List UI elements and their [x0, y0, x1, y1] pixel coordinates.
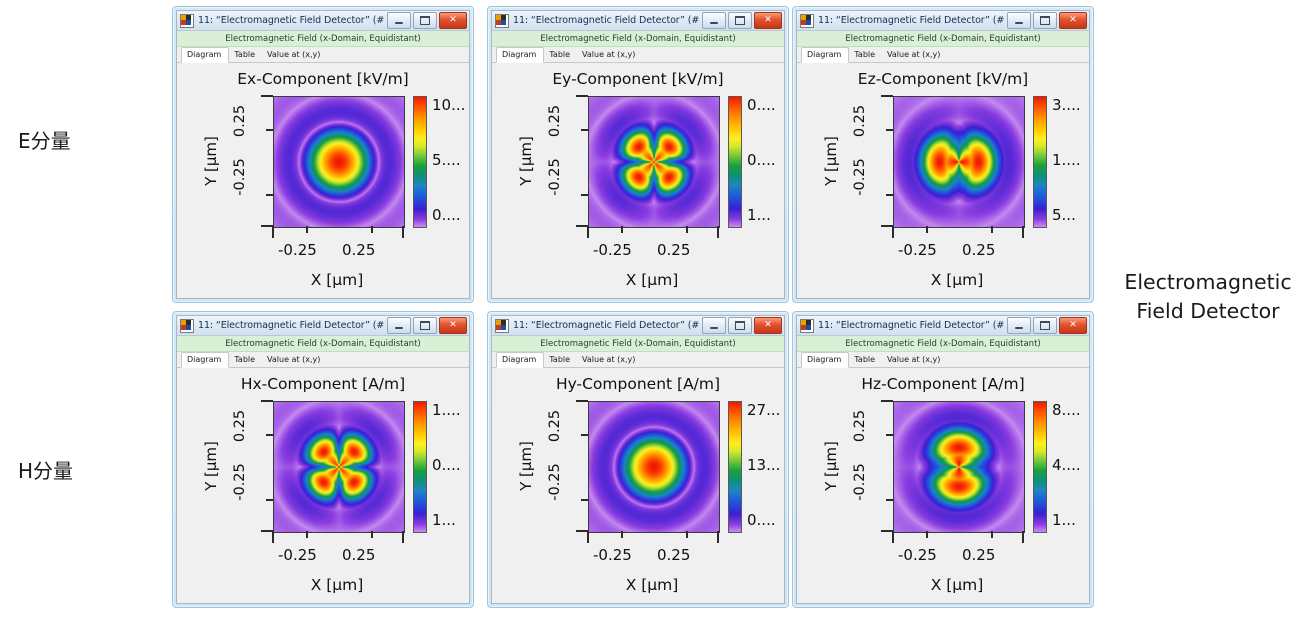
y-axis-top-tick [576, 95, 588, 97]
colorbar-label-mid: 5.... [432, 151, 461, 169]
tab-table[interactable]: Table [849, 353, 882, 367]
maximize-icon [1040, 321, 1050, 330]
window-inner: 11: “Electromagnetic Field Detector” (# … [796, 10, 1090, 299]
close-button[interactable]: ✕ [1059, 12, 1087, 29]
minimize-button[interactable] [387, 12, 411, 29]
window-button-group: ✕ [387, 317, 467, 334]
close-button[interactable]: ✕ [754, 12, 782, 29]
y-tick-label-lower: -0.25 [538, 169, 572, 185]
tab-table[interactable]: Table [229, 48, 262, 62]
tab-diagram[interactable]: Diagram [181, 352, 229, 368]
colorbar-label-max: 1.... [432, 401, 461, 419]
x-axis-label: X [µm] [257, 271, 417, 289]
tab-value-at-xy[interactable]: Value at (x,y) [577, 353, 642, 367]
y-axis-bottom-tick [261, 530, 273, 532]
y-tick-mark-0 [581, 434, 588, 436]
diagram-plot-area: Ey-Component [kV/m] Y [µm] 0.25 -0.25 -0… [492, 63, 784, 298]
y-tick-mark-0 [886, 129, 893, 131]
x-axis-start-tick [892, 226, 894, 238]
x-tick-label-right: 0.25 [657, 546, 690, 564]
dataset-subheader: Electromagnetic Field (x-Domain, Equidis… [177, 336, 469, 352]
application-icon [800, 319, 814, 333]
x-tick-mark-0 [306, 531, 308, 538]
x-tick-mark-1 [686, 531, 688, 538]
maximize-button[interactable] [1033, 12, 1057, 29]
x-tick-label-left: -0.25 [898, 546, 937, 564]
window-titlebar[interactable]: 11: “Electromagnetic Field Detector” (# … [797, 11, 1089, 31]
application-icon [495, 14, 509, 28]
x-axis-start-tick [892, 531, 894, 543]
tab-value-at-xy[interactable]: Value at (x,y) [882, 48, 947, 62]
x-tick-mark-0 [621, 226, 623, 233]
maximize-button[interactable] [728, 317, 752, 334]
dataset-subheader: Electromagnetic Field (x-Domain, Equidis… [492, 31, 784, 47]
colorbar-label-min: 1... [432, 511, 456, 529]
window-button-group: ✕ [387, 12, 467, 29]
minimize-button[interactable] [1007, 12, 1031, 29]
annotation-e-component: E分量 [18, 125, 71, 154]
tab-diagram[interactable]: Diagram [496, 352, 544, 368]
colorbar-label-min: 0.... [432, 206, 461, 224]
y-axis-bottom-tick [576, 530, 588, 532]
colorbar-label-min: 1... [1052, 511, 1076, 529]
plot-title: Ex-Component [kV/m] [177, 70, 469, 88]
minimize-button[interactable] [702, 317, 726, 334]
application-icon [800, 14, 814, 28]
y-tick-label-upper: 0.25 [538, 113, 572, 129]
x-tick-mark-0 [306, 226, 308, 233]
dataset-subheader: Electromagnetic Field (x-Domain, Equidis… [177, 31, 469, 47]
maximize-icon [420, 321, 430, 330]
tab-table[interactable]: Table [849, 48, 882, 62]
field-heatmap-canvas [589, 97, 719, 227]
y-axis-label: Y [µm] [821, 96, 841, 226]
x-axis-label: X [µm] [877, 271, 1037, 289]
y-tick-label-upper: 0.25 [538, 418, 572, 434]
dataset-subheader: Electromagnetic Field (x-Domain, Equidis… [492, 336, 784, 352]
colorbar[interactable] [413, 96, 427, 228]
window-inner: 11: “Electromagnetic Field Detector” (# … [796, 315, 1090, 604]
colorbar-label-mid: 13... [747, 456, 780, 474]
minimize-icon [395, 22, 403, 24]
maximize-icon [420, 16, 430, 25]
close-icon: ✕ [764, 16, 772, 25]
window-button-group: ✕ [702, 317, 782, 334]
tab-diagram[interactable]: Diagram [801, 352, 849, 368]
maximize-button[interactable] [413, 12, 437, 29]
detector-window-ex[interactable]: 11: “Electromagnetic Field Detector” (# … [172, 6, 474, 303]
tab-value-at-xy[interactable]: Value at (x,y) [262, 353, 327, 367]
y-axis-label: Y [µm] [201, 401, 221, 531]
detector-window-ey[interactable]: 11: “Electromagnetic Field Detector” (# … [487, 6, 789, 303]
detector-window-hx[interactable]: 11: “Electromagnetic Field Detector” (# … [172, 311, 474, 608]
plot-title: Ez-Component [kV/m] [797, 70, 1089, 88]
window-titlebar[interactable]: 11: “Electromagnetic Field Detector” (# … [492, 316, 784, 336]
x-tick-label-left: -0.25 [278, 241, 317, 259]
x-axis-end-tick [717, 531, 719, 543]
view-tabbar: Diagram Table Value at (x,y) [177, 47, 469, 63]
maximize-button[interactable] [1033, 317, 1057, 334]
dataset-subheader: Electromagnetic Field (x-Domain, Equidis… [797, 31, 1089, 47]
x-tick-mark-1 [371, 531, 373, 538]
x-tick-label-left: -0.25 [898, 241, 937, 259]
colorbar-label-mid: 1.... [1052, 151, 1081, 169]
field-heatmap-ey[interactable] [588, 96, 720, 228]
window-button-group: ✕ [1007, 12, 1087, 29]
window-inner: 11: “Electromagnetic Field Detector” (# … [491, 10, 785, 299]
close-icon: ✕ [449, 321, 457, 330]
window-title: 11: “Electromagnetic Field Detector” (# … [818, 320, 1007, 331]
field-heatmap-hx[interactable] [273, 401, 405, 533]
application-icon [180, 14, 194, 28]
x-tick-label-left: -0.25 [278, 546, 317, 564]
window-inner: 11: “Electromagnetic Field Detector” (# … [491, 315, 785, 604]
field-heatmap-canvas [894, 402, 1024, 532]
window-title: 11: “Electromagnetic Field Detector” (# … [513, 320, 702, 331]
minimize-icon [710, 327, 718, 329]
colorbar-label-mid: 0.... [432, 456, 461, 474]
y-tick-label-upper: 0.25 [843, 113, 877, 129]
x-tick-mark-1 [686, 226, 688, 233]
x-tick-mark-0 [926, 531, 928, 538]
field-heatmap-ex[interactable] [273, 96, 405, 228]
y-tick-label-lower: -0.25 [538, 474, 572, 490]
annotation-detector-caption: Electromagnetic Field Detector [1110, 268, 1306, 326]
x-axis-end-tick [402, 531, 404, 543]
y-tick-label-lower: -0.25 [843, 169, 877, 185]
x-axis-end-tick [402, 226, 404, 238]
minimize-button[interactable] [387, 317, 411, 334]
diagram-plot-area: Ez-Component [kV/m] Y [µm] 0.25 -0.25 -0… [797, 63, 1089, 298]
tab-table[interactable]: Table [544, 353, 577, 367]
close-button[interactable]: ✕ [439, 12, 467, 29]
y-tick-mark-0 [266, 434, 273, 436]
x-axis-end-tick [1022, 226, 1024, 238]
y-tick-label-upper: 0.25 [843, 418, 877, 434]
window-button-group: ✕ [702, 12, 782, 29]
field-heatmap-canvas [274, 97, 404, 227]
colorbar[interactable] [1033, 96, 1047, 228]
close-button[interactable]: ✕ [439, 317, 467, 334]
view-tabbar: Diagram Table Value at (x,y) [177, 352, 469, 368]
tab-table[interactable]: Table [229, 353, 262, 367]
y-tick-mark-1 [886, 194, 893, 196]
x-tick-label-left: -0.25 [593, 241, 632, 259]
x-axis-start-tick [272, 226, 274, 238]
x-axis-end-tick [717, 226, 719, 238]
colorbar-label-max: 27... [747, 401, 780, 419]
plot-title: Hz-Component [A/m] [797, 375, 1089, 393]
maximize-button[interactable] [728, 12, 752, 29]
close-icon: ✕ [449, 16, 457, 25]
colorbar-label-min: 0.... [747, 511, 776, 529]
x-axis-label: X [µm] [572, 271, 732, 289]
x-axis-label: X [µm] [877, 576, 1037, 594]
colorbar[interactable] [413, 401, 427, 533]
x-tick-mark-1 [991, 226, 993, 233]
y-tick-label-upper: 0.25 [223, 418, 257, 434]
x-tick-label-right: 0.25 [657, 241, 690, 259]
x-tick-label-right: 0.25 [342, 241, 375, 259]
application-icon [180, 319, 194, 333]
plot-title: Ey-Component [kV/m] [492, 70, 784, 88]
close-icon: ✕ [764, 321, 772, 330]
detector-caption-line1: Electromagnetic [1110, 268, 1306, 297]
minimize-button[interactable] [702, 12, 726, 29]
y-axis-label: Y [µm] [821, 401, 841, 531]
diagram-plot-area: Ex-Component [kV/m] Y [µm] 0.25 -0.25 -0… [177, 63, 469, 298]
tab-diagram[interactable]: Diagram [181, 47, 229, 63]
tab-value-at-xy[interactable]: Value at (x,y) [577, 48, 642, 62]
window-inner: 11: “Electromagnetic Field Detector” (# … [176, 10, 470, 299]
detector-caption-line2: Field Detector [1110, 297, 1306, 326]
y-axis-top-tick [261, 400, 273, 402]
window-inner: 11: “Electromagnetic Field Detector” (# … [176, 315, 470, 604]
tab-value-at-xy[interactable]: Value at (x,y) [262, 48, 327, 62]
tab-diagram[interactable]: Diagram [801, 47, 849, 63]
maximize-icon [1040, 16, 1050, 25]
y-axis-bottom-tick [576, 225, 588, 227]
x-tick-label-right: 0.25 [962, 546, 995, 564]
y-tick-mark-1 [886, 499, 893, 501]
x-tick-label-right: 0.25 [962, 241, 995, 259]
colorbar-label-mid: 0.... [747, 151, 776, 169]
dataset-subheader: Electromagnetic Field (x-Domain, Equidis… [797, 336, 1089, 352]
close-icon: ✕ [1069, 321, 1077, 330]
minimize-button[interactable] [1007, 317, 1031, 334]
field-heatmap-hz[interactable] [893, 401, 1025, 533]
colorbar[interactable] [1033, 401, 1047, 533]
diagram-plot-area: Hx-Component [A/m] Y [µm] 0.25 -0.25 -0.… [177, 368, 469, 603]
colorbar[interactable] [728, 96, 742, 228]
plot-title: Hx-Component [A/m] [177, 375, 469, 393]
y-tick-label-lower: -0.25 [223, 169, 257, 185]
maximize-icon [735, 16, 745, 25]
diagram-plot-area: Hz-Component [A/m] Y [µm] 0.25 -0.25 -0.… [797, 368, 1089, 603]
window-title: 11: “Electromagnetic Field Detector” (# … [198, 320, 387, 331]
detector-window-ez[interactable]: 11: “Electromagnetic Field Detector” (# … [792, 6, 1094, 303]
minimize-icon [710, 22, 718, 24]
window-title: 11: “Electromagnetic Field Detector” (# … [818, 15, 1007, 26]
window-title: 11: “Electromagnetic Field Detector” (# … [198, 15, 387, 26]
y-tick-mark-0 [886, 434, 893, 436]
colorbar-label-max: 8.... [1052, 401, 1081, 419]
application-icon [495, 319, 509, 333]
x-tick-mark-0 [621, 531, 623, 538]
colorbar-label-mid: 4.... [1052, 456, 1081, 474]
y-tick-mark-1 [581, 499, 588, 501]
detector-window-hy[interactable]: 11: “Electromagnetic Field Detector” (# … [487, 311, 789, 608]
y-axis-label: Y [µm] [201, 96, 221, 226]
y-axis-bottom-tick [881, 530, 893, 532]
view-tabbar: Diagram Table Value at (x,y) [492, 47, 784, 63]
x-axis-start-tick [272, 531, 274, 543]
field-heatmap-hy[interactable] [588, 401, 720, 533]
close-button[interactable]: ✕ [754, 317, 782, 334]
close-icon: ✕ [1069, 16, 1077, 25]
y-tick-mark-1 [581, 194, 588, 196]
colorbar-label-min: 5... [1052, 206, 1076, 224]
x-axis-label: X [µm] [572, 576, 732, 594]
x-tick-label-right: 0.25 [342, 546, 375, 564]
colorbar-label-max: 10... [432, 96, 465, 114]
detector-window-hz[interactable]: 11: “Electromagnetic Field Detector” (# … [792, 311, 1094, 608]
y-tick-label-upper: 0.25 [223, 113, 257, 129]
tab-diagram[interactable]: Diagram [496, 47, 544, 63]
x-axis-start-tick [587, 531, 589, 543]
window-titlebar[interactable]: 11: “Electromagnetic Field Detector” (# … [492, 11, 784, 31]
field-heatmap-canvas [589, 402, 719, 532]
view-tabbar: Diagram Table Value at (x,y) [492, 352, 784, 368]
minimize-icon [1015, 22, 1023, 24]
colorbar-label-min: 1... [747, 206, 771, 224]
window-title: 11: “Electromagnetic Field Detector” (# … [513, 15, 702, 26]
colorbar-label-max: 3.... [1052, 96, 1081, 114]
window-button-group: ✕ [1007, 317, 1087, 334]
y-tick-mark-0 [581, 129, 588, 131]
x-axis-start-tick [587, 226, 589, 238]
x-tick-mark-1 [991, 531, 993, 538]
field-heatmap-canvas [894, 97, 1024, 227]
y-axis-top-tick [261, 95, 273, 97]
y-tick-mark-1 [266, 499, 273, 501]
maximize-button[interactable] [413, 317, 437, 334]
annotation-h-component: H分量 [18, 455, 73, 484]
y-axis-top-tick [576, 400, 588, 402]
tab-table[interactable]: Table [544, 48, 577, 62]
diagram-plot-area: Hy-Component [A/m] Y [µm] 0.25 -0.25 -0.… [492, 368, 784, 603]
x-tick-mark-0 [926, 226, 928, 233]
minimize-icon [1015, 327, 1023, 329]
y-tick-label-lower: -0.25 [843, 474, 877, 490]
tab-value-at-xy[interactable]: Value at (x,y) [882, 353, 947, 367]
colorbar-label-max: 0.... [747, 96, 776, 114]
close-button[interactable]: ✕ [1059, 317, 1087, 334]
y-axis-label: Y [µm] [516, 96, 536, 226]
y-tick-mark-1 [266, 194, 273, 196]
y-axis-top-tick [881, 400, 893, 402]
y-axis-bottom-tick [261, 225, 273, 227]
y-tick-label-lower: -0.25 [223, 474, 257, 490]
maximize-icon [735, 321, 745, 330]
x-tick-label-left: -0.25 [593, 546, 632, 564]
window-titlebar[interactable]: 11: “Electromagnetic Field Detector” (# … [177, 11, 469, 31]
y-axis-bottom-tick [881, 225, 893, 227]
window-titlebar[interactable]: 11: “Electromagnetic Field Detector” (# … [177, 316, 469, 336]
x-axis-end-tick [1022, 531, 1024, 543]
view-tabbar: Diagram Table Value at (x,y) [797, 47, 1089, 63]
window-titlebar[interactable]: 11: “Electromagnetic Field Detector” (# … [797, 316, 1089, 336]
plot-title: Hy-Component [A/m] [492, 375, 784, 393]
minimize-icon [395, 327, 403, 329]
y-tick-mark-0 [266, 129, 273, 131]
x-tick-mark-1 [371, 226, 373, 233]
field-heatmap-canvas [274, 402, 404, 532]
x-axis-label: X [µm] [257, 576, 417, 594]
field-heatmap-ez[interactable] [893, 96, 1025, 228]
view-tabbar: Diagram Table Value at (x,y) [797, 352, 1089, 368]
y-axis-label: Y [µm] [516, 401, 536, 531]
colorbar[interactable] [728, 401, 742, 533]
y-axis-top-tick [881, 95, 893, 97]
